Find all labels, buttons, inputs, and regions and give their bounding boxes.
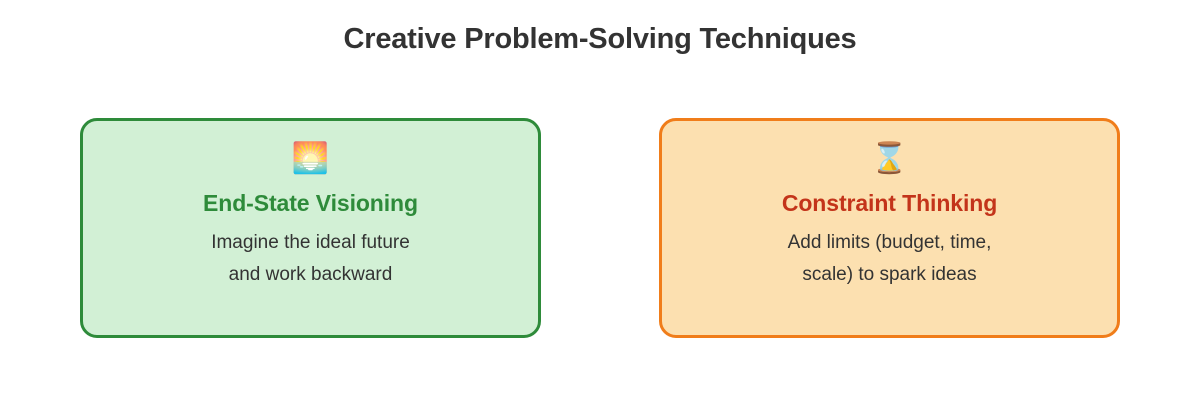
- technique-card-heading: Constraint Thinking: [782, 190, 997, 216]
- technique-card-description-line-2: and work backward: [211, 259, 410, 291]
- technique-card-constraint-thinking[interactable]: ⌛ Constraint Thinking Add limits (budget…: [659, 118, 1120, 338]
- technique-cards-row: 🌅 End-State Visioning Imagine the ideal …: [80, 118, 1120, 338]
- page-title: Creative Problem-Solving Techniques: [0, 23, 1200, 56]
- hourglass-icon: ⌛: [871, 142, 908, 176]
- technique-card-description: Add limits (budget, time, scale) to spar…: [788, 227, 992, 291]
- technique-card-description-line-1: Add limits (budget, time,: [788, 227, 992, 259]
- sunrise-icon: 🌅: [292, 142, 329, 176]
- technique-card-description-line-2: scale) to spark ideas: [788, 259, 992, 291]
- technique-card-description-line-1: Imagine the ideal future: [211, 227, 410, 259]
- technique-card-end-state-visioning[interactable]: 🌅 End-State Visioning Imagine the ideal …: [80, 118, 541, 338]
- technique-card-description: Imagine the ideal future and work backwa…: [211, 227, 410, 291]
- technique-card-heading: End-State Visioning: [203, 190, 418, 216]
